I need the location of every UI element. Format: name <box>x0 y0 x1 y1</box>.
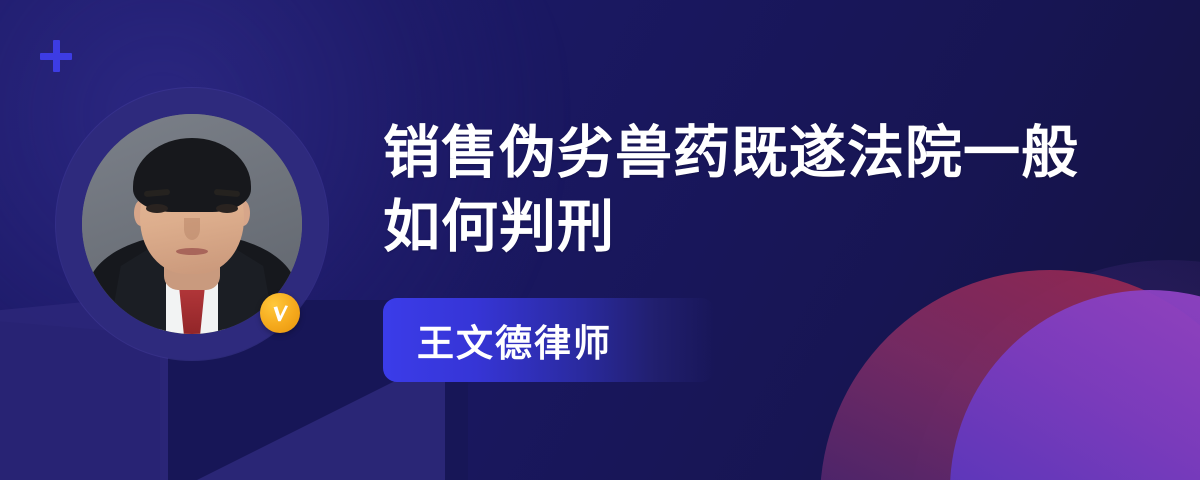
plus-icon <box>40 40 72 72</box>
avatar[interactable] <box>56 88 328 360</box>
lawyer-name-label: 王文德律师 <box>417 313 612 367</box>
verified-badge-icon <box>260 293 300 333</box>
content-column: 销售伪劣兽药既遂法院一般如何判刑 王文德律师 <box>383 116 1083 264</box>
lawyer-answer-banner: 销售伪劣兽药既遂法院一般如何判刑 王文德律师 <box>0 0 1200 480</box>
lawyer-name-button[interactable]: 王文德律师 <box>383 298 715 382</box>
page-title: 销售伪劣兽药既遂法院一般如何判刑 <box>383 116 1083 264</box>
